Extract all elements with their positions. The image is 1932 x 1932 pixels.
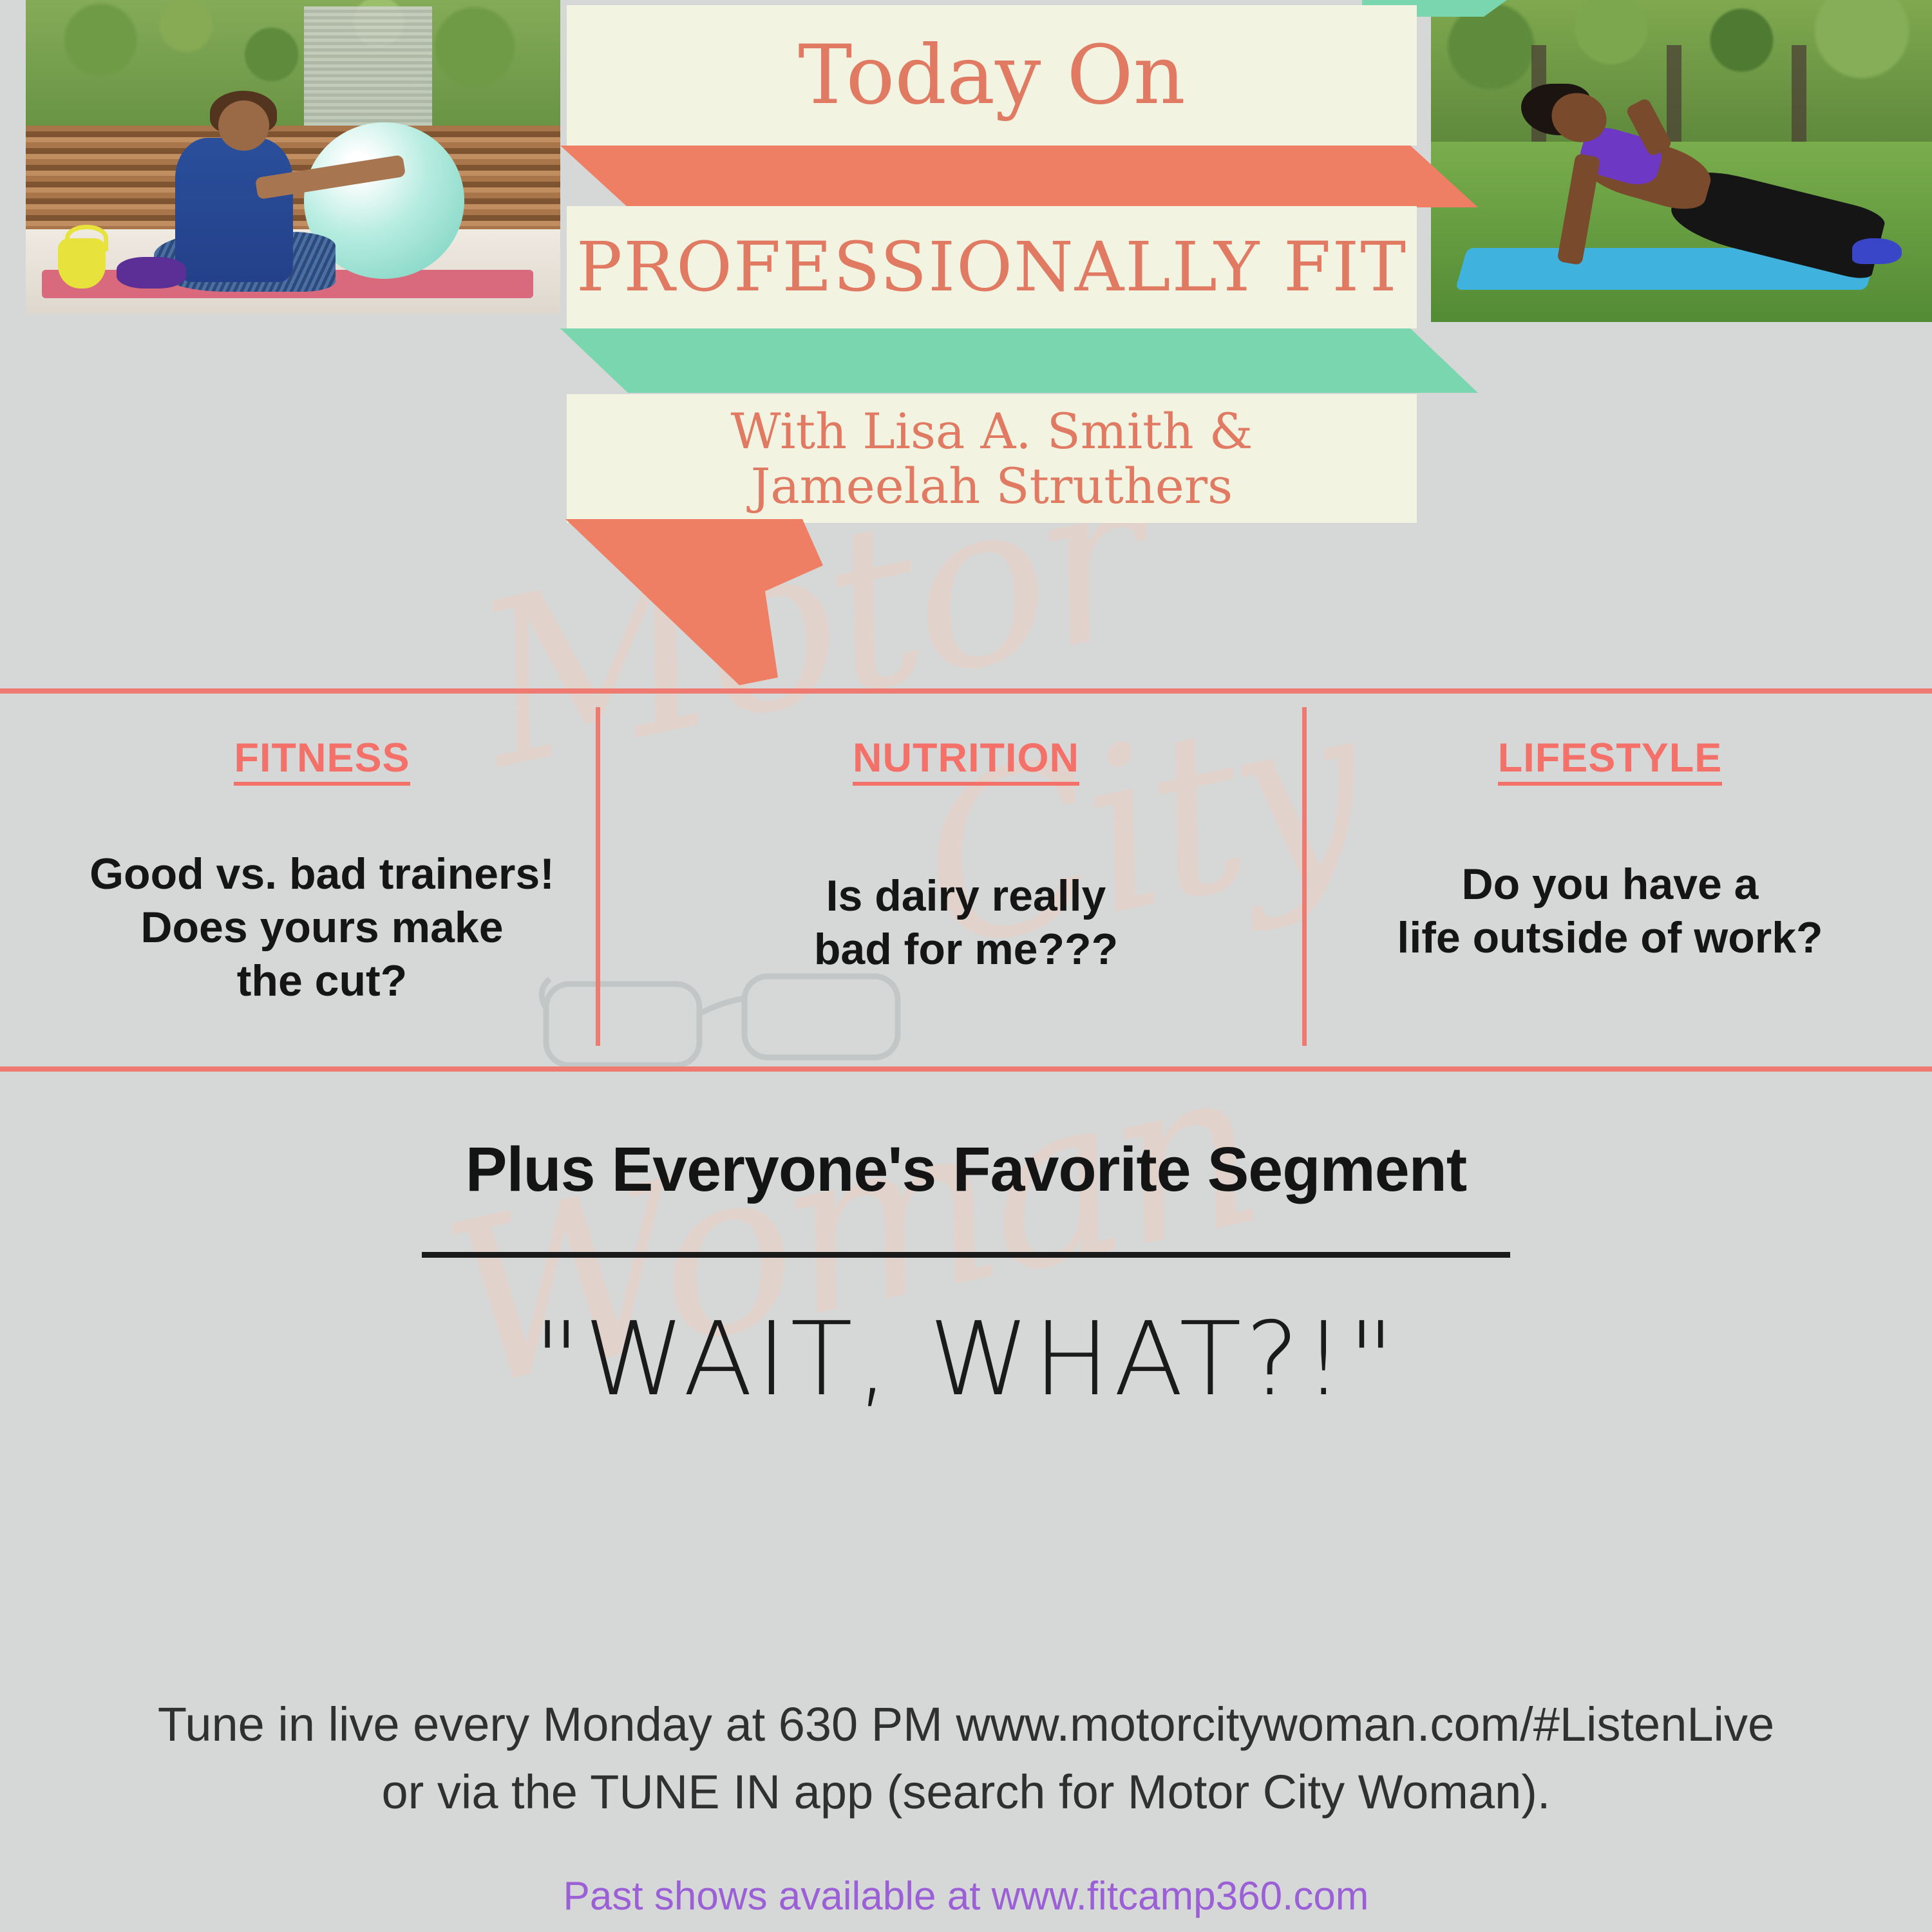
- today-on-banner: Today On: [567, 5, 1417, 146]
- topic-body-lifestyle-line-2: life outside of work?: [1397, 913, 1823, 962]
- hosts-line-2: Jameelah Struthers: [751, 457, 1233, 515]
- topic-body-lifestyle-line-1: Do you have a: [1461, 860, 1758, 909]
- footer-block: Tune in live every Monday at 630 PM www.…: [0, 1690, 1932, 1919]
- topic-body-lifestyle: Do you have a life outside of work?: [1397, 858, 1823, 965]
- ribbon-coral-tail: [565, 519, 823, 688]
- topic-column-lifestyle: LIFESTYLE Do you have a life outside of …: [1288, 696, 1932, 1063]
- favorite-segment-block: Plus Everyone's Favorite Segment "WAIT, …: [0, 1133, 1932, 1419]
- today-on-text: Today On: [798, 30, 1186, 120]
- hosts-banner: With Lisa A. Smith & Jameelah Struthers: [567, 394, 1417, 523]
- topic-body-nutrition: Is dairy really bad for me???: [814, 869, 1118, 976]
- show-title-banner: PROFESSIONALLY FIT: [567, 206, 1417, 328]
- segment-title: Plus Everyone's Favorite Segment: [0, 1133, 1932, 1206]
- topic-heading-lifestyle: LIFESTYLE: [1498, 737, 1723, 786]
- banner-stack: Today On PROFESSIONALLY FIT With Lisa A.…: [0, 0, 1932, 676]
- topic-body-fitness-line-1: Good vs. bad trainers!: [90, 849, 554, 898]
- show-title-text: PROFESSIONALLY FIT: [576, 229, 1407, 306]
- ribbon-green-lower: [560, 328, 1478, 393]
- segment-name: "WAIT, WHAT?!": [0, 1300, 1932, 1419]
- segment-divider: [422, 1252, 1510, 1258]
- promo-poster: Motor City Woman: [0, 0, 1932, 1932]
- topic-body-fitness-line-2: Does yours make: [140, 903, 503, 952]
- topic-heading-fitness: FITNESS: [234, 737, 410, 786]
- topic-body-fitness-line-3: the cut?: [237, 956, 407, 1005]
- topic-columns: FITNESS Good vs. bad trainers! Does your…: [0, 696, 1932, 1063]
- topic-column-fitness: FITNESS Good vs. bad trainers! Does your…: [0, 696, 644, 1063]
- ribbon-coral-upper: [560, 146, 1478, 207]
- topic-body-nutrition-line-1: Is dairy really: [826, 871, 1106, 920]
- divider-rule-top: [0, 688, 1932, 694]
- topic-heading-nutrition: NUTRITION: [853, 737, 1079, 786]
- past-shows-link[interactable]: Past shows available at www.fitcamp360.c…: [0, 1873, 1932, 1919]
- footer-line-1: Tune in live every Monday at 630 PM www.…: [0, 1690, 1932, 1758]
- hosts-text: With Lisa A. Smith & Jameelah Struthers: [731, 404, 1253, 513]
- topic-column-nutrition: NUTRITION Is dairy really bad for me???: [644, 696, 1288, 1063]
- hosts-line-1: With Lisa A. Smith &: [731, 402, 1253, 460]
- topic-body-fitness: Good vs. bad trainers! Does yours make t…: [90, 848, 554, 1008]
- topic-body-nutrition-line-2: bad for me???: [814, 925, 1118, 974]
- footer-line-2: or via the TUNE IN app (search for Motor…: [0, 1758, 1932, 1826]
- divider-rule-bottom: [0, 1066, 1932, 1072]
